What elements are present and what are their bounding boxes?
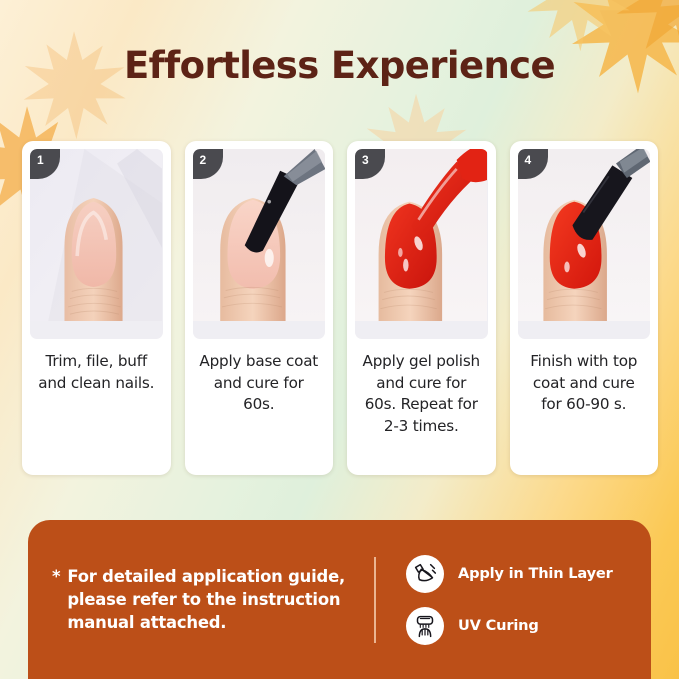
instruction-note: * For detailed application guide, please… (28, 565, 368, 635)
page-title-wrap: Effortless Experience (0, 44, 679, 87)
step-2-caption: Apply base coat and cure for 60s. (193, 339, 326, 465)
brush-stroke-icon (406, 555, 444, 593)
step-1-caption: Trim, file, buff and clean nails. (30, 339, 163, 465)
instruction-note-text: For detailed application guide, please r… (67, 565, 368, 635)
uv-lamp-hand-icon (406, 607, 444, 645)
feature-uv-curing-label: UV Curing (458, 617, 539, 634)
feature-apply-thin-layer: Apply in Thin Layer (406, 555, 613, 593)
step-card-1[interactable]: 1 (22, 141, 171, 475)
step-card-3[interactable]: 3 (347, 141, 496, 475)
step-2-thumbnail: 2 (193, 149, 326, 339)
info-banner: * For detailed application guide, please… (28, 520, 651, 679)
step-3-thumbnail: 3 (355, 149, 488, 339)
feature-list: Apply in Thin Layer (406, 555, 613, 645)
step-card-2[interactable]: 2 (185, 141, 334, 475)
banner-divider (374, 557, 376, 643)
promo-graphic: Effortless Experience 1 (0, 0, 679, 679)
steps-row: 1 (22, 141, 658, 475)
step-1-thumbnail: 1 (30, 149, 163, 339)
page-title: Effortless Experience (0, 44, 679, 87)
step-4-thumbnail: 4 (518, 149, 651, 339)
step-card-4[interactable]: 4 (510, 141, 659, 475)
step-3-caption: Apply gel polish and cure for 60s. Repea… (355, 339, 488, 465)
feature-uv-curing: UV Curing (406, 607, 613, 645)
step-4-caption: Finish with top coat and cure for 60-90 … (518, 339, 651, 465)
feature-apply-thin-layer-label: Apply in Thin Layer (458, 565, 613, 582)
asterisk-marker: * (52, 565, 60, 635)
